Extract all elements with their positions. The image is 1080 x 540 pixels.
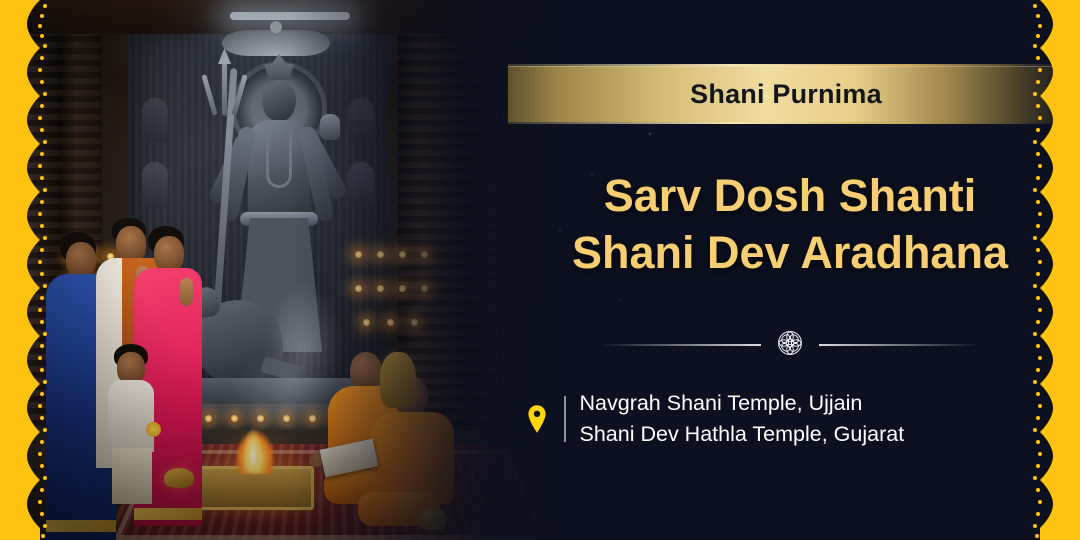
photo-fade-to-background <box>0 0 560 540</box>
temple-photo <box>0 0 560 540</box>
poster-content-panel: Shani Purnima Sarv Dosh Shanti Shani Dev… <box>500 0 1080 540</box>
venue-line-2: Shani Dev Hathla Temple, Gujarat <box>580 419 905 450</box>
event-name-ribbon: Shani Purnima <box>508 66 1064 122</box>
decorative-border-right <box>1026 0 1080 540</box>
venue-block: Navgrah Shani Temple, Ujjain Shani Dev H… <box>524 388 1064 449</box>
location-pin-icon <box>524 401 550 437</box>
shani-purnima-poster: Shani Purnima Sarv Dosh Shanti Shani Dev… <box>0 0 1080 540</box>
event-name-label: Shani Purnima <box>690 79 882 110</box>
venue-text: Navgrah Shani Temple, Ujjain Shani Dev H… <box>580 388 905 449</box>
headline-line-2: Shani Dev Aradhana <box>510 225 1070 282</box>
floral-rosette-ornament-icon <box>775 328 805 363</box>
page-title: Sarv Dosh Shanti Shani Dev Aradhana <box>510 168 1070 281</box>
temple-scene <box>0 0 560 540</box>
divider-line-left <box>600 344 761 346</box>
venue-line-1: Navgrah Shani Temple, Ujjain <box>580 388 905 419</box>
decorative-border-left <box>0 0 54 540</box>
venue-divider-bar <box>564 396 566 442</box>
ornamental-divider <box>600 328 980 362</box>
divider-line-right <box>819 344 980 346</box>
headline-line-1: Sarv Dosh Shanti <box>510 168 1070 225</box>
